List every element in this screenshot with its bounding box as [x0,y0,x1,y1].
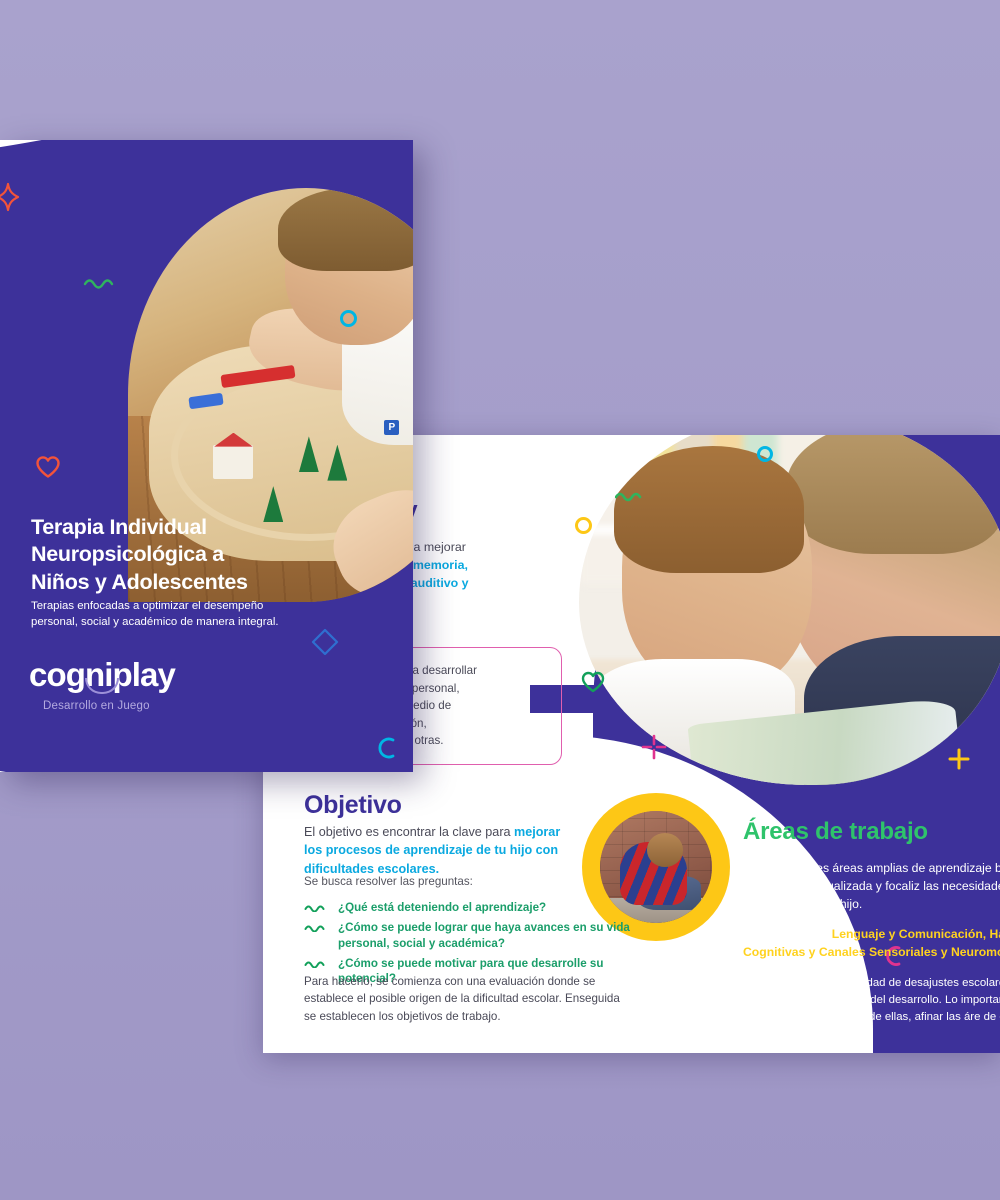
areas-list-label: Las áreas son: [743,927,828,941]
photo-father-and-son [579,435,1000,785]
question-text: ¿Cómo se puede lograr que haya avances e… [338,921,630,949]
areas-de-trabajo-section: Áreas de trabajo Se trabajan tres áreas … [743,818,1000,1039]
pink-plus-icon [641,734,667,760]
cover-bottom-white-swoosh [0,744,413,772]
cyan-arc-icon [378,736,398,760]
areas-list-paragraph: Las áreas son: Lenguaje y Comunicación, … [743,926,1000,962]
cover-subtitle: Terapias enfocadas a optimizar el desemp… [31,599,311,630]
red-heart-outline-icon [35,455,61,479]
areas-heading: Áreas de trabajo [743,818,1000,846]
objetivo-lead-plain: El objetivo es encontrar la clave para [304,825,514,839]
objetivo-lead-paragraph: El objetivo es encontrar la clave para m… [304,823,572,880]
question-item: ¿Qué está deteniendo el aprendizaje? [304,900,644,915]
objetivo-heading: Objetivo [304,791,402,820]
logo-wordmark: cogniplay [29,658,175,691]
cover-title-line-1: Terapia Individual [31,515,207,539]
green-squiggle-bullet-icon [304,959,328,968]
cogniplay-logo: cogniplay Desarrollo en Juego [29,658,229,712]
cyan-circle-outline-icon [340,310,357,327]
areas-paragraph-1: Se trabajan tres áreas amplias de aprend… [743,860,1000,913]
logo-tagline: Desarrollo en Juego [43,700,229,712]
green-heart-outline-icon [581,671,605,693]
cover-subtitle-line-1: Terapias enfocadas a optimizar el desemp… [31,600,263,612]
cover-top-white-swoosh [0,140,413,170]
cyan-circle-outline-icon [757,446,773,462]
cover-title-line-2: Neuropsicológica a [31,542,224,566]
green-squiggle-bullet-icon [304,923,328,932]
page-1-cover-sheet: P Terapia Individual Neuropsicológica a … [0,140,413,772]
question-text: ¿Qué está deteniendo el aprendizaje? [338,901,546,914]
cover-subtitle-line-2: personal, social y académico de manera i… [31,616,279,628]
areas-paragraph-2: Se trabaja con una variedad de desajuste… [743,975,1000,1026]
green-squiggle-left-icon [615,490,645,502]
cover-title: Terapia Individual Neuropsicológica a Ni… [31,514,391,596]
objetivo-tail-paragraph: Para hacerlo, se comienza con una evalua… [304,973,634,1025]
objetivo-questions-label: Se busca resolver las preguntas: [304,875,473,888]
yellow-plus-icon [948,748,970,770]
pink-callout-rest-1: a desarrollar [409,664,477,677]
cover-title-line-3: Niños y Adolescentes [31,570,248,594]
blue-diamond-outline-icon [310,627,340,657]
orange-four-point-star-icon [0,182,20,212]
green-squiggle-bullet-icon [304,903,328,912]
question-item: ¿Cómo se puede lograr que haya avances e… [304,920,644,951]
green-squiggle-icon [83,276,119,290]
brochure-mockup-canvas: Cogniplay académico, se busca mejorar di… [0,0,1000,1200]
